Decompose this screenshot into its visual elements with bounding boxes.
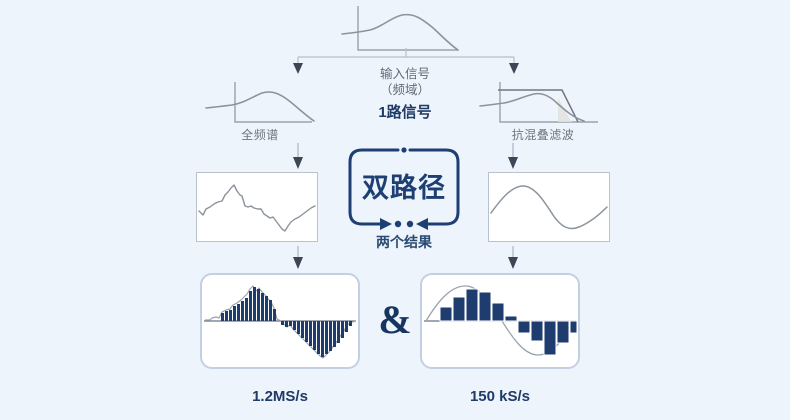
arrow-head-left (293, 63, 303, 74)
badge-dot-right (407, 221, 413, 227)
low-rate-value: 150 kS/s (430, 388, 570, 405)
low-rate-bars (422, 275, 578, 367)
conjunction-ampersand: & (375, 300, 415, 340)
dual-path-label: 双路径 (342, 166, 466, 205)
antialias-filter-label: 抗混叠滤波 (478, 126, 608, 143)
high-rate-value: 1.2MS/s (210, 388, 350, 405)
arrow-head-right (509, 63, 519, 74)
full-spectrum-chart (200, 78, 320, 130)
arrow-left-to-timebox (288, 143, 308, 171)
channel-count-label: 1路信号 (335, 101, 475, 122)
high-rate-bars (202, 275, 358, 367)
arrow-right-to-panel (503, 246, 523, 272)
time-domain-noisy-box (196, 172, 318, 242)
dual-path-badge: 双路径 (342, 146, 466, 238)
arrow-head-inward-left (380, 218, 392, 230)
badge-dot-top (401, 147, 406, 152)
source-caption-line1: 输入信号 (335, 66, 475, 83)
full-spectrum-label: 全频谱 (200, 126, 320, 143)
sampled-low-rate-panel (420, 273, 580, 369)
time-domain-sine-box (488, 172, 610, 242)
arrow-right-to-timebox (503, 143, 523, 171)
sampled-high-rate-panel (200, 273, 360, 369)
antialias-filter-chart (478, 78, 608, 130)
badge-dot-left (395, 221, 401, 227)
source-spectrum-chart (340, 2, 470, 54)
source-caption-line2: （频域） (335, 82, 475, 99)
diagram-canvas: 输入信号 （频域） 1路信号 全频谱 (0, 0, 790, 420)
two-results-label: 两个结果 (334, 232, 474, 252)
arrow-head-inward-right (416, 218, 428, 230)
arrow-left-to-panel (288, 246, 308, 272)
